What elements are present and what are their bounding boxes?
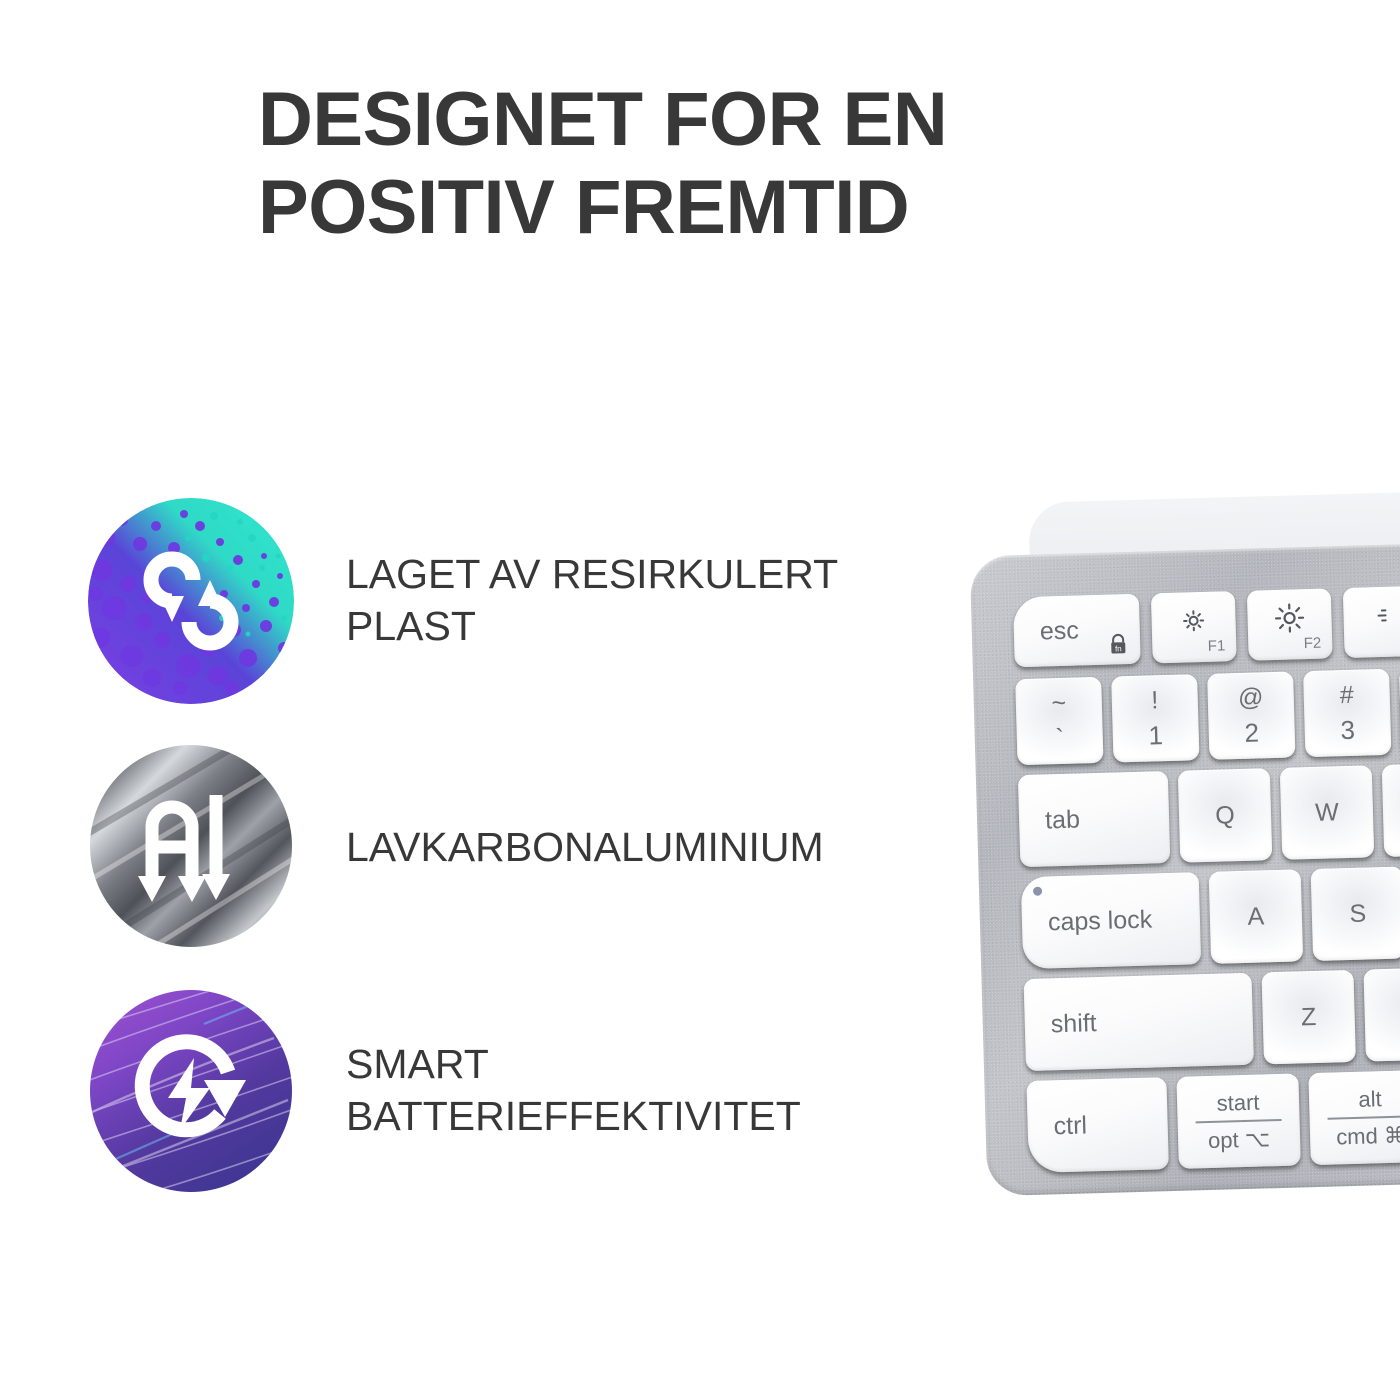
key-shift[interactable]: shift <box>1024 973 1254 1071</box>
feature-item-low-carbon-aluminium: LAVKARBONALUMINIUM <box>88 743 918 988</box>
key-start-label: start <box>1195 1088 1282 1122</box>
key-2-top: @ <box>1238 683 1264 713</box>
key-tab-label: tab <box>1045 807 1080 833</box>
key-opt-label: opt ⌥ <box>1196 1120 1283 1153</box>
key-1-bottom: 1 <box>1148 720 1163 751</box>
key-a-label: A <box>1247 904 1264 929</box>
key-2[interactable]: @ 2 <box>1207 671 1295 759</box>
key-f2[interactable]: F2 <box>1247 588 1333 660</box>
feature-item-smart-battery-efficiency: SMART BATTERIEFFEKTIVITET <box>88 988 918 1233</box>
key-w-label: W <box>1315 800 1339 826</box>
key-caps-lock[interactable]: caps lock <box>1021 872 1201 969</box>
brightness-up-icon <box>1273 602 1306 642</box>
key-alt-label: alt <box>1327 1085 1400 1119</box>
caps-lock-led-indicator <box>1033 887 1042 896</box>
key-z[interactable]: Z <box>1261 970 1356 1065</box>
key-cmd-label: cmd ⌘ <box>1328 1117 1400 1150</box>
feature-label: LAVKARBONALUMINIUM <box>346 821 926 873</box>
key-w[interactable]: W <box>1280 765 1375 860</box>
brightness-icon-partial <box>1372 602 1399 636</box>
key-alt-cmd[interactable]: alt cmd ⌘ <box>1308 1070 1400 1165</box>
key-3-bottom: 3 <box>1340 714 1355 745</box>
key-s[interactable]: S <box>1311 867 1400 962</box>
key-q-label: Q <box>1215 803 1235 829</box>
recycled-plastic-icon <box>88 498 294 704</box>
key-ctrl-label: ctrl <box>1053 1113 1087 1139</box>
key-f2-caption: F2 <box>1304 635 1322 652</box>
key-x[interactable]: X <box>1363 967 1400 1062</box>
key-tab[interactable]: tab <box>1018 771 1171 867</box>
page-title: DESIGNET FOR EN POSITIV FREMTID <box>258 76 1218 252</box>
key-start-opt[interactable]: start opt ⌥ <box>1176 1074 1301 1169</box>
key-caps-lock-label: caps lock <box>1048 907 1153 935</box>
key-f1[interactable]: F1 <box>1151 591 1237 663</box>
key-q[interactable]: Q <box>1178 768 1273 863</box>
key-esc-label: esc <box>1039 618 1079 644</box>
key-tilde-bottom: ` <box>1055 722 1065 753</box>
low-carbon-aluminium-icon <box>88 743 294 949</box>
key-3[interactable]: # 3 <box>1303 669 1391 757</box>
key-f3[interactable] <box>1343 586 1400 658</box>
key-ctrl[interactable]: ctrl <box>1026 1077 1169 1173</box>
key-shift-label: shift <box>1050 1011 1097 1037</box>
fn-lock-icon: fn <box>1108 633 1129 656</box>
brightness-down-icon <box>1180 608 1207 642</box>
key-f1-caption: F1 <box>1208 637 1226 654</box>
smart-battery-efficiency-icon <box>88 988 294 1194</box>
key-2-bottom: 2 <box>1244 717 1259 748</box>
key-s-label: S <box>1349 901 1366 926</box>
key-esc[interactable]: esc fn <box>1013 594 1141 667</box>
key-tilde-top: ~ <box>1051 688 1066 717</box>
svg-text:fn: fn <box>1115 644 1122 653</box>
feature-label: SMART BATTERIEFFEKTIVITET <box>346 1038 926 1143</box>
key-1[interactable]: ! 1 <box>1111 674 1199 762</box>
feature-list: LAGET AV RESIRKULERT PLAST <box>88 498 918 1233</box>
feature-label: LAGET AV RESIRKULERT PLAST <box>346 548 926 653</box>
key-3-top: # <box>1339 680 1354 709</box>
key-1-top: ! <box>1151 686 1159 715</box>
key-a[interactable]: A <box>1209 869 1304 964</box>
keyboard-product-image: esc fn <box>950 474 1400 1255</box>
key-e[interactable]: E <box>1382 762 1400 857</box>
feature-item-recycled-plastic: LAGET AV RESIRKULERT PLAST <box>88 498 918 743</box>
key-tilde[interactable]: ~ ` <box>1015 677 1103 765</box>
key-z-label: Z <box>1301 1004 1317 1029</box>
